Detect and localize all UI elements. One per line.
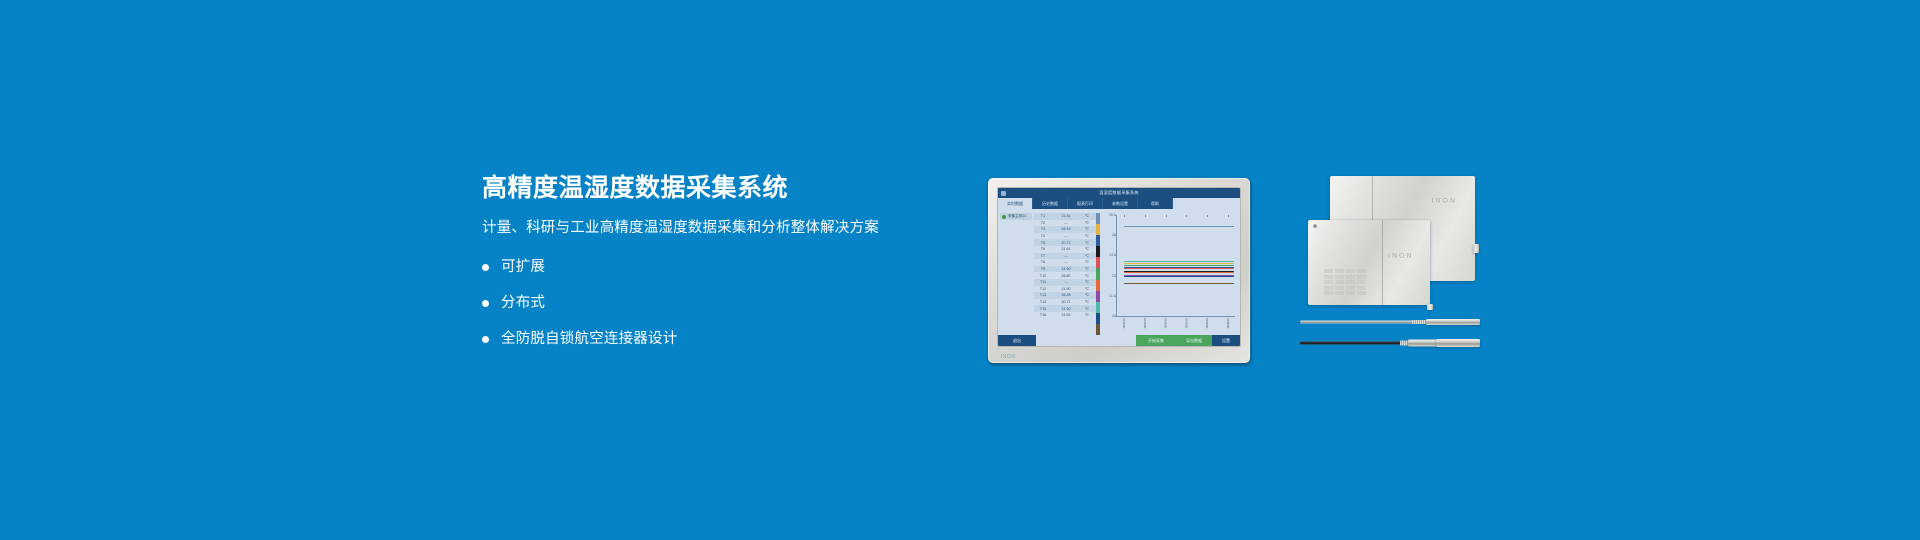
cell-name: T12	[1035, 287, 1051, 291]
cell-name: T1	[1035, 214, 1051, 218]
device-online-icon	[1002, 215, 1006, 219]
cell-unit: ℃	[1081, 260, 1093, 264]
cell-unit: ℃	[1081, 280, 1093, 284]
cell-value: ---	[1051, 254, 1081, 258]
bullet-dot-icon	[482, 264, 489, 271]
cell-name: T13	[1035, 293, 1051, 297]
feature-label: 可扩展	[501, 260, 545, 275]
trend-line	[1124, 272, 1234, 273]
connector-port	[1427, 304, 1433, 310]
x-axis-tick-label: 10:55:00	[1226, 318, 1230, 328]
tab-realtime-data[interactable]: 实时数据	[998, 198, 1033, 209]
cell-unit: ℃	[1081, 293, 1093, 297]
series-color-legend	[1096, 213, 1100, 335]
x-axis-tick-label: 10:50:00	[1205, 318, 1209, 328]
cell-unit: ℃	[1081, 274, 1093, 278]
cell-value: ---	[1051, 234, 1081, 238]
x-axis-tickmark	[1228, 215, 1229, 217]
tabbar-filler	[1173, 198, 1240, 209]
table-row[interactable]: T621.61℃	[1034, 246, 1096, 253]
cell-unit: ℃	[1081, 254, 1093, 258]
x-axis-tick-label: 10:45:00	[1184, 318, 1188, 328]
tab-report-print[interactable]: 报表打印	[1068, 198, 1103, 209]
legend-swatch	[1096, 324, 1100, 335]
cell-name: T11	[1035, 280, 1051, 284]
table-row[interactable]: T1521.90℃	[1034, 305, 1096, 312]
cell-value: 20.71	[1051, 300, 1081, 304]
cell-unit: ℃	[1081, 300, 1093, 304]
brand-logo: INON	[1388, 253, 1414, 260]
table-row[interactable]: T4---℃	[1034, 233, 1096, 240]
probe-cable	[1300, 341, 1404, 344]
probe-tip	[1436, 339, 1480, 347]
cell-name: T2	[1035, 221, 1051, 225]
table-row[interactable]: T520.72℃	[1034, 239, 1096, 246]
legend-swatch	[1096, 246, 1100, 257]
start-capture-button[interactable]: 开始采集	[1136, 335, 1176, 346]
product-hero-banner: 高精度温湿度数据采集系统 计量、科研与工业高精度温湿度数据采集和分析整体解决方案…	[0, 0, 1920, 540]
table-row[interactable]: T1621.94℃	[1034, 312, 1096, 319]
temperature-probe-cable	[1300, 338, 1480, 347]
trend-line	[1124, 226, 1234, 227]
table-row[interactable]: T2---℃	[1034, 220, 1096, 227]
table-row[interactable]: T121.31℃	[1034, 213, 1096, 220]
table-row[interactable]: T326.19℃	[1034, 226, 1096, 233]
app-tabbar: 实时数据 历史数据 报表打印 参数设置 帮助	[998, 198, 1240, 209]
cell-unit: ℃	[1081, 247, 1093, 251]
app-titlebar: 温湿度数据采集系统	[998, 188, 1240, 198]
table-row[interactable]: T1420.71℃	[1034, 299, 1096, 306]
enclosure-seam	[1382, 220, 1383, 305]
page-title: 高精度温湿度数据采集系统	[482, 176, 952, 201]
cell-name: T5	[1035, 241, 1051, 245]
table-row[interactable]: T1326.28℃	[1034, 292, 1096, 299]
bullet-dot-icon	[482, 300, 489, 307]
x-axis-tickmark	[1166, 215, 1167, 217]
cell-value: 21.90	[1051, 267, 1081, 271]
legend-swatch	[1096, 302, 1100, 313]
cell-unit: ℃	[1081, 287, 1093, 291]
cell-unit: ℃	[1081, 313, 1093, 317]
channel-value-table: T121.31℃T2---℃T326.19℃T4---℃T520.72℃T621…	[1034, 209, 1096, 335]
cell-value: 21.94	[1051, 313, 1081, 317]
x-axis-tick-label: 10:30:00	[1122, 318, 1126, 328]
app-title: 温湿度数据采集系统	[998, 190, 1240, 196]
trend-line	[1124, 283, 1234, 284]
app-statusbar: 退出 开始采集 导出数据 设置	[998, 335, 1240, 346]
cell-value: 26.19	[1051, 227, 1081, 231]
cell-name: T8	[1035, 260, 1051, 264]
cell-value: 21.31	[1051, 214, 1081, 218]
app-body: 采集主机01 T121.31℃T2---℃T326.19℃T4---℃T520.…	[998, 209, 1240, 335]
trend-chart: 26.52624.52321.52010:30:0010:35:0010:40:…	[1102, 213, 1237, 333]
cell-value: 20.72	[1051, 241, 1081, 245]
data-logger-enclosure-front: INON	[1308, 220, 1430, 305]
y-axis-tickmark	[1115, 316, 1117, 317]
cell-name: T4	[1035, 234, 1051, 238]
monitor-bezel: 温湿度数据采集系统 实时数据 历史数据 报表打印 参数设置 帮助	[988, 178, 1250, 363]
hero-text-block: 高精度温湿度数据采集系统 计量、科研与工业高精度温湿度数据采集和分析整体解决方案…	[482, 176, 952, 368]
feature-item-1: 分布式	[482, 296, 952, 312]
trend-line	[1124, 276, 1234, 277]
table-row[interactable]: T1026.80℃	[1034, 272, 1096, 279]
cell-value: 26.80	[1051, 274, 1081, 278]
y-axis-tickmark	[1115, 215, 1117, 216]
statusbar-gap	[1036, 335, 1136, 346]
x-axis-tick-label: 10:35:00	[1143, 318, 1147, 328]
cell-name: T14	[1035, 300, 1051, 304]
legend-swatch	[1096, 213, 1100, 224]
table-row[interactable]: T8---℃	[1034, 259, 1096, 266]
connector-port	[1473, 244, 1479, 253]
feature-item-0: 可扩展	[482, 260, 952, 276]
cell-unit: ℃	[1081, 221, 1093, 225]
legend-swatch	[1096, 268, 1100, 279]
trend-line	[1124, 261, 1234, 262]
cell-value: 26.28	[1051, 293, 1081, 297]
brand-logo: INON	[1432, 198, 1458, 205]
temperature-probe-steel	[1300, 318, 1480, 325]
y-axis-tickmark	[1115, 276, 1117, 277]
x-axis-tickmark	[1186, 215, 1187, 217]
cell-value: 21.90	[1051, 307, 1081, 311]
page-subtitle: 计量、科研与工业高精度温湿度数据采集和分析整体解决方案	[482, 221, 952, 236]
x-axis-tickmark	[1124, 215, 1125, 217]
cell-unit: ℃	[1081, 234, 1093, 238]
tab-history-data[interactable]: 历史数据	[1033, 198, 1068, 209]
y-axis-tickmark	[1115, 235, 1117, 236]
probe-tip	[1426, 319, 1480, 325]
exit-button[interactable]: 退出	[998, 335, 1036, 346]
device-tree-node[interactable]: 采集主机01	[1000, 213, 1032, 220]
legend-swatch	[1096, 224, 1100, 235]
probe-connector	[1408, 339, 1438, 346]
cell-unit: ℃	[1081, 241, 1093, 245]
cell-name: T9	[1035, 267, 1051, 271]
x-axis-tick-label: 10:40:00	[1164, 318, 1168, 328]
cell-value: 21.61	[1051, 247, 1081, 251]
cell-name: T7	[1035, 254, 1051, 258]
cell-unit: ℃	[1081, 227, 1093, 231]
cell-name: T6	[1035, 247, 1051, 251]
cell-value: ---	[1051, 221, 1081, 225]
y-axis-tickmark	[1115, 255, 1117, 256]
cell-unit: ℃	[1081, 267, 1093, 271]
probe-shaft	[1300, 320, 1418, 323]
trend-line	[1124, 268, 1234, 269]
export-data-button[interactable]: 导出数据	[1176, 335, 1212, 346]
enclosure-screw	[1313, 224, 1317, 228]
settings-button[interactable]: 设置	[1212, 335, 1240, 346]
cell-unit: ℃	[1081, 214, 1093, 218]
feature-label: 全防脱自锁航空连接器设计	[501, 332, 677, 347]
x-axis-tickmark	[1145, 215, 1146, 217]
cell-name: T10	[1035, 274, 1051, 278]
trend-line	[1124, 263, 1234, 264]
device-tree-panel: 采集主机01	[998, 209, 1034, 335]
legend-swatch	[1096, 257, 1100, 268]
spec-label-etching	[1324, 269, 1366, 299]
cell-name: T3	[1035, 227, 1051, 231]
chart-plot-area: 26.52624.52321.52010:30:0010:35:0010:40:…	[1116, 215, 1235, 317]
table-row[interactable]: T1221.90℃	[1034, 286, 1096, 293]
table-row[interactable]: T921.90℃	[1034, 266, 1096, 273]
panel-pc-monitor: 温湿度数据采集系统 实时数据 历史数据 报表打印 参数设置 帮助	[988, 178, 1250, 363]
feature-label: 分布式	[501, 296, 545, 311]
legend-swatch	[1096, 235, 1100, 246]
cell-unit: ℃	[1081, 307, 1093, 311]
cell-name: T15	[1035, 307, 1051, 311]
tab-settings[interactable]: 参数设置	[1103, 198, 1138, 209]
bullet-dot-icon	[482, 336, 489, 343]
cell-value: 21.90	[1051, 287, 1081, 291]
monitor-inner-frame: 温湿度数据采集系统 实时数据 历史数据 报表打印 参数设置 帮助	[997, 187, 1241, 347]
x-axis-tickmark	[1207, 215, 1208, 217]
legend-swatch	[1096, 291, 1100, 302]
legend-swatch	[1096, 313, 1100, 324]
y-axis-tickmark	[1115, 296, 1117, 297]
tab-help[interactable]: 帮助	[1138, 198, 1173, 209]
cell-value: ---	[1051, 280, 1081, 284]
table-row[interactable]: T11---℃	[1034, 279, 1096, 286]
device-node-label: 采集主机01	[1008, 214, 1026, 219]
monitor-brand-logo: INON	[1001, 354, 1015, 360]
table-row[interactable]: T7---℃	[1034, 253, 1096, 260]
hardware-group: INON INON	[1300, 172, 1480, 367]
cell-name: T16	[1035, 313, 1051, 317]
software-screen: 温湿度数据采集系统 实时数据 历史数据 报表打印 参数设置 帮助	[998, 188, 1240, 346]
feature-item-2: 全防脱自锁航空连接器设计	[482, 332, 952, 348]
legend-swatch	[1096, 280, 1100, 291]
cell-value: ---	[1051, 260, 1081, 264]
